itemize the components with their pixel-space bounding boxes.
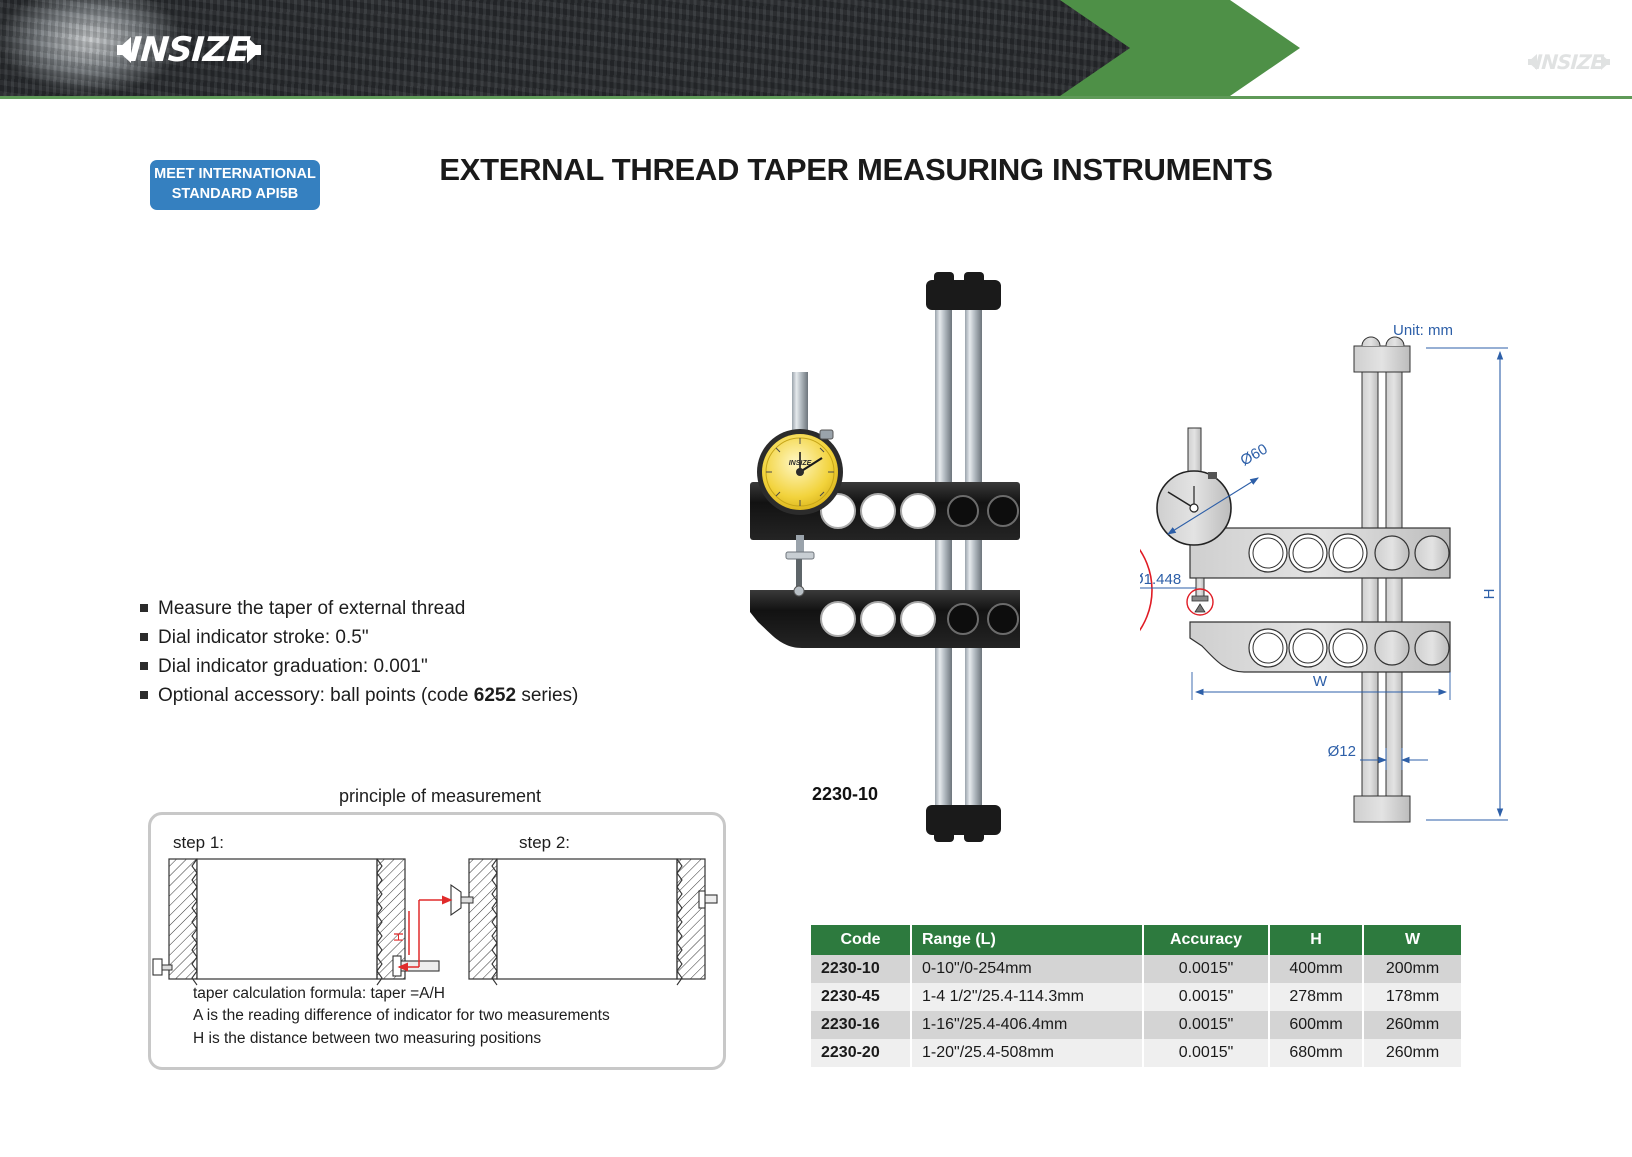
cell-accuracy: 0.0015"	[1143, 955, 1269, 983]
insize-logo-watermark: INSIZE	[1528, 52, 1610, 72]
step1-workpiece	[169, 859, 405, 985]
th-h: H	[1269, 925, 1363, 955]
drawing-probe-detail	[1187, 578, 1213, 615]
product-code-label: 2230-10	[812, 784, 878, 805]
list-item: Measure the taper of external thread	[140, 596, 700, 623]
cell-w: 178mm	[1363, 983, 1461, 1011]
th-code: Code	[811, 925, 911, 955]
probe-stems	[786, 535, 814, 596]
column-assembly	[926, 272, 1001, 842]
bullet-square-icon	[140, 604, 148, 612]
step1-probe-right	[393, 956, 439, 976]
product-photo-svg: INSIZE	[720, 260, 1140, 860]
dim-w-annotation: W	[1192, 672, 1450, 700]
cell-accuracy: 0.0015"	[1143, 983, 1269, 1011]
dial-brand-text: INSIZE	[789, 460, 812, 467]
dial-indicator: INSIZE	[757, 372, 843, 515]
page-title: EXTERNAL THREAD TAPER MEASURING INSTRUME…	[0, 152, 1632, 188]
cell-accuracy: 0.0015"	[1143, 1039, 1269, 1067]
step2-probe-right	[699, 891, 717, 908]
cell-range: 0-10"/0-254mm	[911, 955, 1143, 983]
drawing-lower-arm	[1190, 622, 1450, 672]
cell-code: 2230-10	[811, 955, 911, 983]
dim-h-label: H	[1481, 589, 1498, 600]
table-row: 2230-45 1-4 1/2"/25.4-114.3mm 0.0015" 27…	[811, 983, 1461, 1011]
formula-line-3: H is the distance between two measuring …	[193, 1028, 713, 1050]
dim-d12-label: Ø12	[1328, 743, 1356, 760]
product-photo: INSIZE	[720, 260, 1140, 860]
feature-text-post: series)	[516, 685, 578, 706]
watermark-right-arrow-icon	[1601, 54, 1610, 70]
cell-w: 200mm	[1363, 955, 1461, 983]
taper-formula-block: taper calculation formula: taper =A/H A …	[193, 983, 713, 1050]
step2-workpiece	[469, 859, 705, 985]
cell-w: 260mm	[1363, 1011, 1461, 1039]
logo-right-arrow-icon	[247, 37, 261, 63]
list-item: Dial indicator stroke: 0.5"	[140, 625, 700, 652]
watermark-wordmark: INSIZE	[1534, 52, 1604, 72]
cell-code: 2230-16	[811, 1011, 911, 1039]
header-green-rule	[0, 96, 1632, 99]
formula-line-1: taper calculation formula: taper =A/H	[193, 983, 713, 1005]
drawing-upper-arm	[1190, 528, 1450, 578]
feature-text: Dial indicator stroke: 0.5"	[158, 625, 369, 652]
cell-h: 278mm	[1269, 983, 1363, 1011]
principle-diagram-box: step 1: step 2:	[148, 812, 726, 1070]
page-header: INSIZE	[0, 0, 1632, 98]
feature-text-composite: Optional accessory: ball points (code 62…	[158, 683, 578, 710]
insize-logo[interactable]: INSIZE	[96, 30, 282, 70]
cell-h: 400mm	[1269, 955, 1363, 983]
table-row: 2230-16 1-16"/25.4-406.4mm 0.0015" 600mm…	[811, 1011, 1461, 1039]
cell-h: 600mm	[1269, 1011, 1363, 1039]
table-row: 2230-20 1-20"/25.4-508mm 0.0015" 680mm 2…	[811, 1039, 1461, 1067]
cell-w: 260mm	[1363, 1039, 1461, 1067]
feature-text: Dial indicator graduation: 0.001"	[158, 654, 428, 681]
th-range: Range (L)	[911, 925, 1143, 955]
dim-d60-label: Ø60	[1238, 441, 1271, 470]
cell-range: 1-20"/25.4-508mm	[911, 1039, 1143, 1067]
th-w: W	[1363, 925, 1461, 955]
list-item: Dial indicator graduation: 0.001"	[140, 654, 700, 681]
cell-range: 1-16"/25.4-406.4mm	[911, 1011, 1143, 1039]
cell-h: 680mm	[1269, 1039, 1363, 1067]
cell-range: 1-4 1/2"/25.4-114.3mm	[911, 983, 1143, 1011]
dim-w-label: W	[1313, 673, 1328, 690]
table-header-row: Code Range (L) Accuracy H W	[811, 925, 1461, 955]
feature-text: Measure the taper of external thread	[158, 596, 465, 623]
list-item: Optional accessory: ball points (code 62…	[140, 683, 700, 710]
h-dimension-annotation	[399, 900, 451, 967]
feature-accessory-code: 6252	[474, 685, 516, 706]
cell-code: 2230-45	[811, 983, 911, 1011]
technical-drawing: L Ø1.448	[1140, 300, 1620, 860]
h-dimension-label: H	[391, 932, 406, 941]
table-row: 2230-10 0-10"/0-254mm 0.0015" 400mm 200m…	[811, 955, 1461, 983]
th-accuracy: Accuracy	[1143, 925, 1269, 955]
bullet-square-icon	[140, 662, 148, 670]
logo-wordmark: INSIZE	[128, 33, 251, 67]
cell-accuracy: 0.0015"	[1143, 1011, 1269, 1039]
principle-caption: principle of measurement	[150, 786, 730, 807]
feature-text-pre: Optional accessory: ball points (code	[158, 685, 474, 706]
cell-code: 2230-20	[811, 1039, 911, 1067]
spec-table: Code Range (L) Accuracy H W 2230-10 0-10…	[811, 925, 1461, 1067]
feature-list: Measure the taper of external thread Dia…	[140, 596, 700, 712]
bullet-square-icon	[140, 633, 148, 641]
lower-arm	[750, 590, 1020, 648]
dim-ball-label: Ø1.448	[1140, 571, 1181, 588]
bullet-square-icon	[140, 691, 148, 699]
dim-h-annotation: H	[1426, 348, 1508, 820]
formula-line-2: A is the reading difference of indicator…	[193, 1005, 713, 1027]
